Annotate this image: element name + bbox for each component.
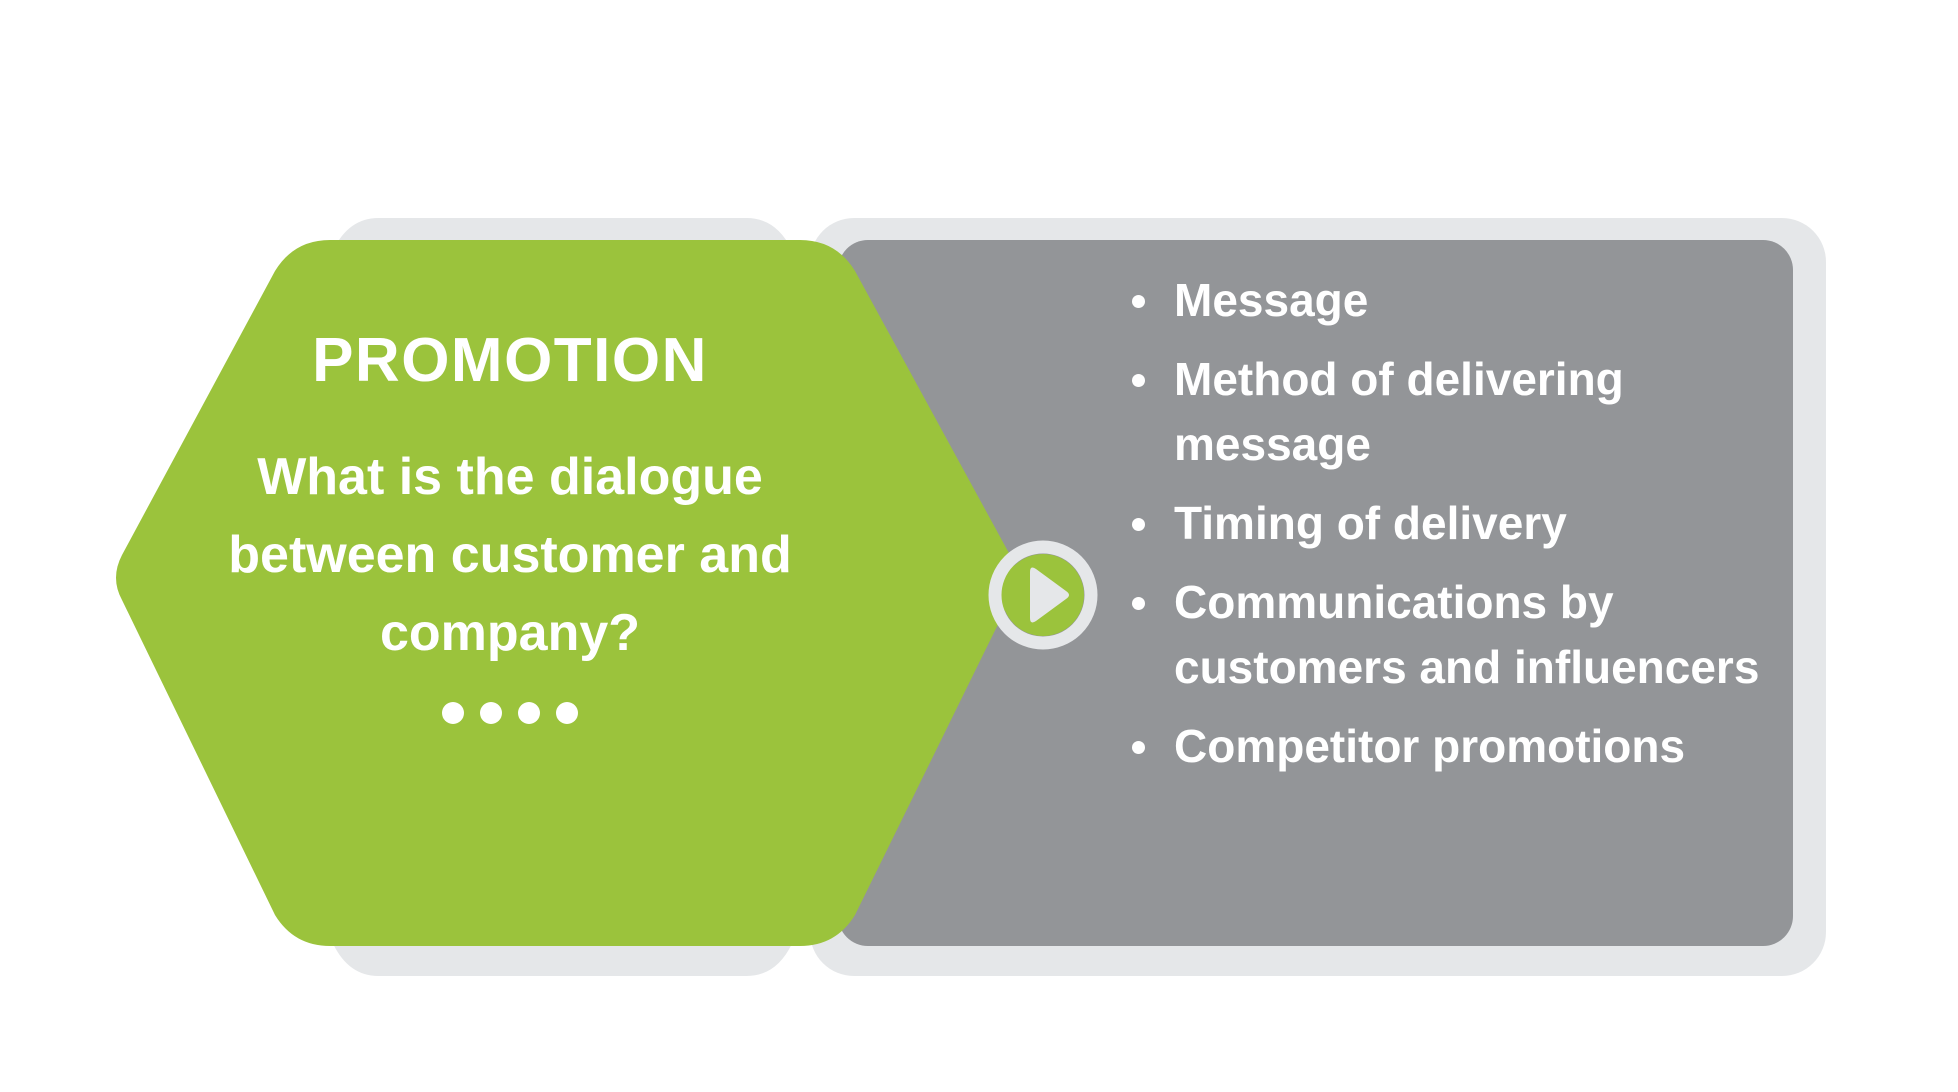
list-item-label: Timing of delivery (1174, 497, 1567, 549)
list-item-label: Method of delivering message (1174, 353, 1624, 470)
list-item: Timing of delivery (1128, 491, 1768, 556)
list-item-label: Communications by customers and influenc… (1174, 576, 1759, 693)
list-item: Competitor promotions (1128, 714, 1768, 779)
list-item-label: Competitor promotions (1174, 720, 1685, 772)
bullet-dot-icon (1132, 518, 1145, 531)
slide-canvas: PROMOTION What is the dialogue between c… (0, 0, 1958, 1092)
list-item: Communications by customers and influenc… (1128, 570, 1768, 700)
bullet-dot-icon (1132, 741, 1145, 754)
bullet-dot-icon (1132, 374, 1145, 387)
list-item: Message (1128, 268, 1768, 333)
promotion-attributes-list: Message Method of delivering message Tim… (1128, 268, 1768, 793)
green-promotion-shape (116, 240, 1016, 946)
play-button[interactable] (995, 547, 1091, 643)
list-item: Method of delivering message (1128, 347, 1768, 477)
bullet-dot-icon (1132, 295, 1145, 308)
bullet-dot-icon (1132, 597, 1145, 610)
list-item-label: Message (1174, 274, 1368, 326)
